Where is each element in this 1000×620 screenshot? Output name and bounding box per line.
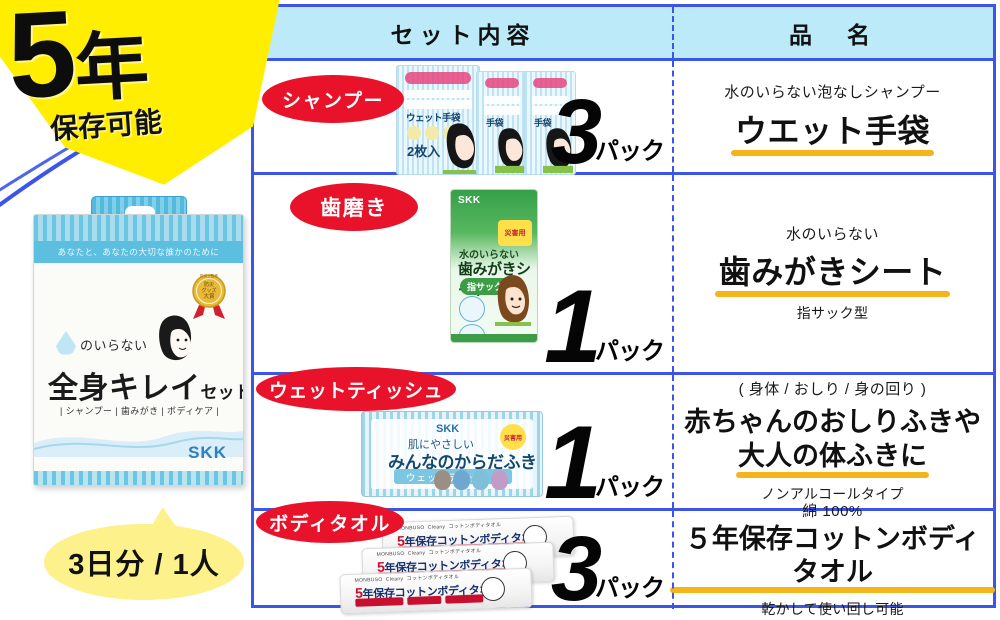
quantity-number: 1	[544, 421, 599, 506]
row-3-name-cell: ( 身体 / おしり / 身の回り ) 赤ちゃんのおしりふきや 大人の体ふきに …	[672, 375, 993, 508]
box-body: あなたと、あなたの大切な誰かのために 防災 グッズ 大賞 防災士監修 のいらない…	[33, 214, 244, 486]
contents-table: セット内容 品 名 シャンプー ウェット手袋 2枚入 手袋	[251, 4, 996, 608]
box-nowater-text: のいらない	[80, 335, 148, 354]
row-4-name-cell: 綿 100% ５年保存コットンボディタオル 乾かして使い回し可能	[672, 511, 993, 609]
box-tagline: あなたと、あなたの大切な誰かのために	[34, 241, 243, 263]
category-pill-body-towel: ボディタオル	[256, 501, 404, 543]
quantity-row-1: 3 パック	[551, 95, 664, 170]
row-2-contents-cell: 歯磨き SKK 災害用 水のいらない 歯みがきシート 指サック型 1 パック	[254, 175, 672, 372]
product-image-shampoo-2: 手袋	[476, 71, 528, 175]
banner-number: 5	[5, 0, 78, 124]
name-note-row-4: 乾かして使い回し可能	[761, 599, 904, 619]
name-subtitle-row-3: ( 身体 / おしり / 身の回り )	[739, 379, 927, 402]
table-row: ボディタオル MONBUSO Cleany コットンボディタオル 5年保存コット…	[254, 511, 993, 609]
table-header-row: セット内容 品 名	[254, 7, 993, 61]
box-brand-logo: SKK	[188, 443, 227, 463]
quantity-unit: パック	[595, 131, 664, 166]
row-1-name-cell: 水のいらない泡なしシャンプー ウエット手袋	[672, 61, 993, 172]
pkg-badge-tooth: 災害用	[498, 220, 532, 246]
table-row: ウェットティッシュ SKK 肌にやさしい みんなのからだふき ウェットティッシュ…	[254, 375, 993, 511]
name-subtitle-row-4: 綿 100%	[802, 501, 863, 524]
svg-text:大賞: 大賞	[203, 292, 215, 300]
row-4-column-divider	[672, 511, 674, 609]
product-image-tooth-sheet: SKK 災害用 水のいらない 歯みがきシート 指サック型	[450, 189, 538, 343]
pkg-brand-tooth: SKK	[458, 195, 481, 206]
row-4-contents-cell: ボディタオル MONBUSO Cleany コットンボディタオル 5年保存コット…	[254, 511, 672, 609]
quantity-unit: パック	[595, 331, 664, 366]
category-pill-wet-tissue: ウェットティッシュ	[256, 367, 456, 411]
box-title-suffix: セット	[201, 383, 245, 402]
table-row: 歯磨き SKK 災害用 水のいらない 歯みがきシート 指サック型 1 パック	[254, 175, 993, 375]
header-set-contents: セット内容	[254, 7, 672, 58]
row-2-name-cell: 水のいらない 歯みがきシート 指サック型	[672, 175, 993, 372]
banner-unit: 年	[73, 24, 149, 111]
face-illustration-icon	[151, 313, 199, 365]
row-3-column-divider	[672, 375, 674, 508]
years-banner: 5年 保存可能	[0, 0, 292, 186]
row-1-contents-cell: シャンプー ウェット手袋 2枚入 手袋	[254, 61, 672, 172]
quantity-number: 3	[551, 532, 599, 607]
box-top-stripe	[34, 215, 243, 241]
bubble-text: 3日分 / 1人	[68, 541, 219, 583]
pkg-badge-wipe: 災害用	[500, 424, 526, 450]
quantity-number: 3	[551, 95, 599, 170]
name-title-row-3-line1: 赤ちゃんのおしりふきや	[684, 406, 981, 438]
name-title-row-4: ５年保存コットンボディタオル	[672, 523, 993, 588]
water-drop-icon	[56, 331, 76, 355]
name-note-row-2: 指サック型	[797, 303, 869, 323]
row-2-column-divider	[672, 175, 674, 372]
svg-text:防災: 防災	[204, 281, 214, 288]
header-column-divider	[672, 7, 674, 58]
quantity-row-3: 1 パック	[544, 421, 664, 506]
table-row: シャンプー ウェット手袋 2枚入 手袋	[254, 61, 993, 175]
box-title: 全身キレイセット	[48, 363, 238, 407]
product-box-photo: あなたと、あなたの大切な誰かのために 防災 グッズ 大賞 防災士監修 のいらない…	[33, 196, 244, 486]
category-pill-toothbrush: 歯磨き	[290, 183, 418, 231]
product-image-wet-tissue: SKK 肌にやさしい みんなのからだふき ウェットティッシュ 災害用	[361, 411, 543, 497]
product-image-shampoo-1: ウェット手袋 2枚入	[396, 65, 480, 175]
name-title-row-2: 歯みがきシート	[719, 253, 947, 292]
days-per-person-bubble: 3日分 / 1人	[44, 524, 244, 600]
quantity-unit: パック	[595, 467, 664, 502]
box-title-main: 全身キレイ	[48, 372, 201, 405]
name-title-row-1: ウエット手袋	[735, 112, 930, 151]
svg-text:グッズ: グッズ	[201, 287, 216, 294]
row-3-contents-cell: ウェットティッシュ SKK 肌にやさしい みんなのからだふき ウェットティッシュ…	[254, 375, 672, 508]
quantity-row-4: 3 パック	[551, 532, 664, 607]
quantity-row-2: 1 パック	[544, 285, 664, 370]
banner-years: 5年	[5, 0, 279, 117]
product-image-towel-3: MONBUSO Cleany コットンボディタオル 5年保存コットンボディタオル	[339, 568, 532, 615]
svg-text:防災士監修: 防災士監修	[200, 273, 218, 278]
name-subtitle-row-2: 水のいらない	[786, 224, 879, 247]
row-1-column-divider	[672, 61, 674, 172]
quantity-number: 1	[544, 285, 599, 370]
pkg-brand-wipe: SKK	[436, 423, 459, 435]
banner-subtitle: 保存可能	[49, 100, 164, 148]
name-title-row-3-line2: 大人の体ふきに	[738, 440, 927, 472]
quantity-unit: パック	[595, 568, 664, 603]
box-features: | シャンプー | 歯みがき | ボディケア |	[60, 404, 219, 417]
name-subtitle-row-1: 水のいらない泡なしシャンプー	[724, 82, 941, 105]
pkg-count-shampoo: 2枚入	[407, 141, 440, 160]
box-bottom-stripe	[34, 471, 243, 485]
header-product-name: 品 名	[672, 7, 993, 58]
